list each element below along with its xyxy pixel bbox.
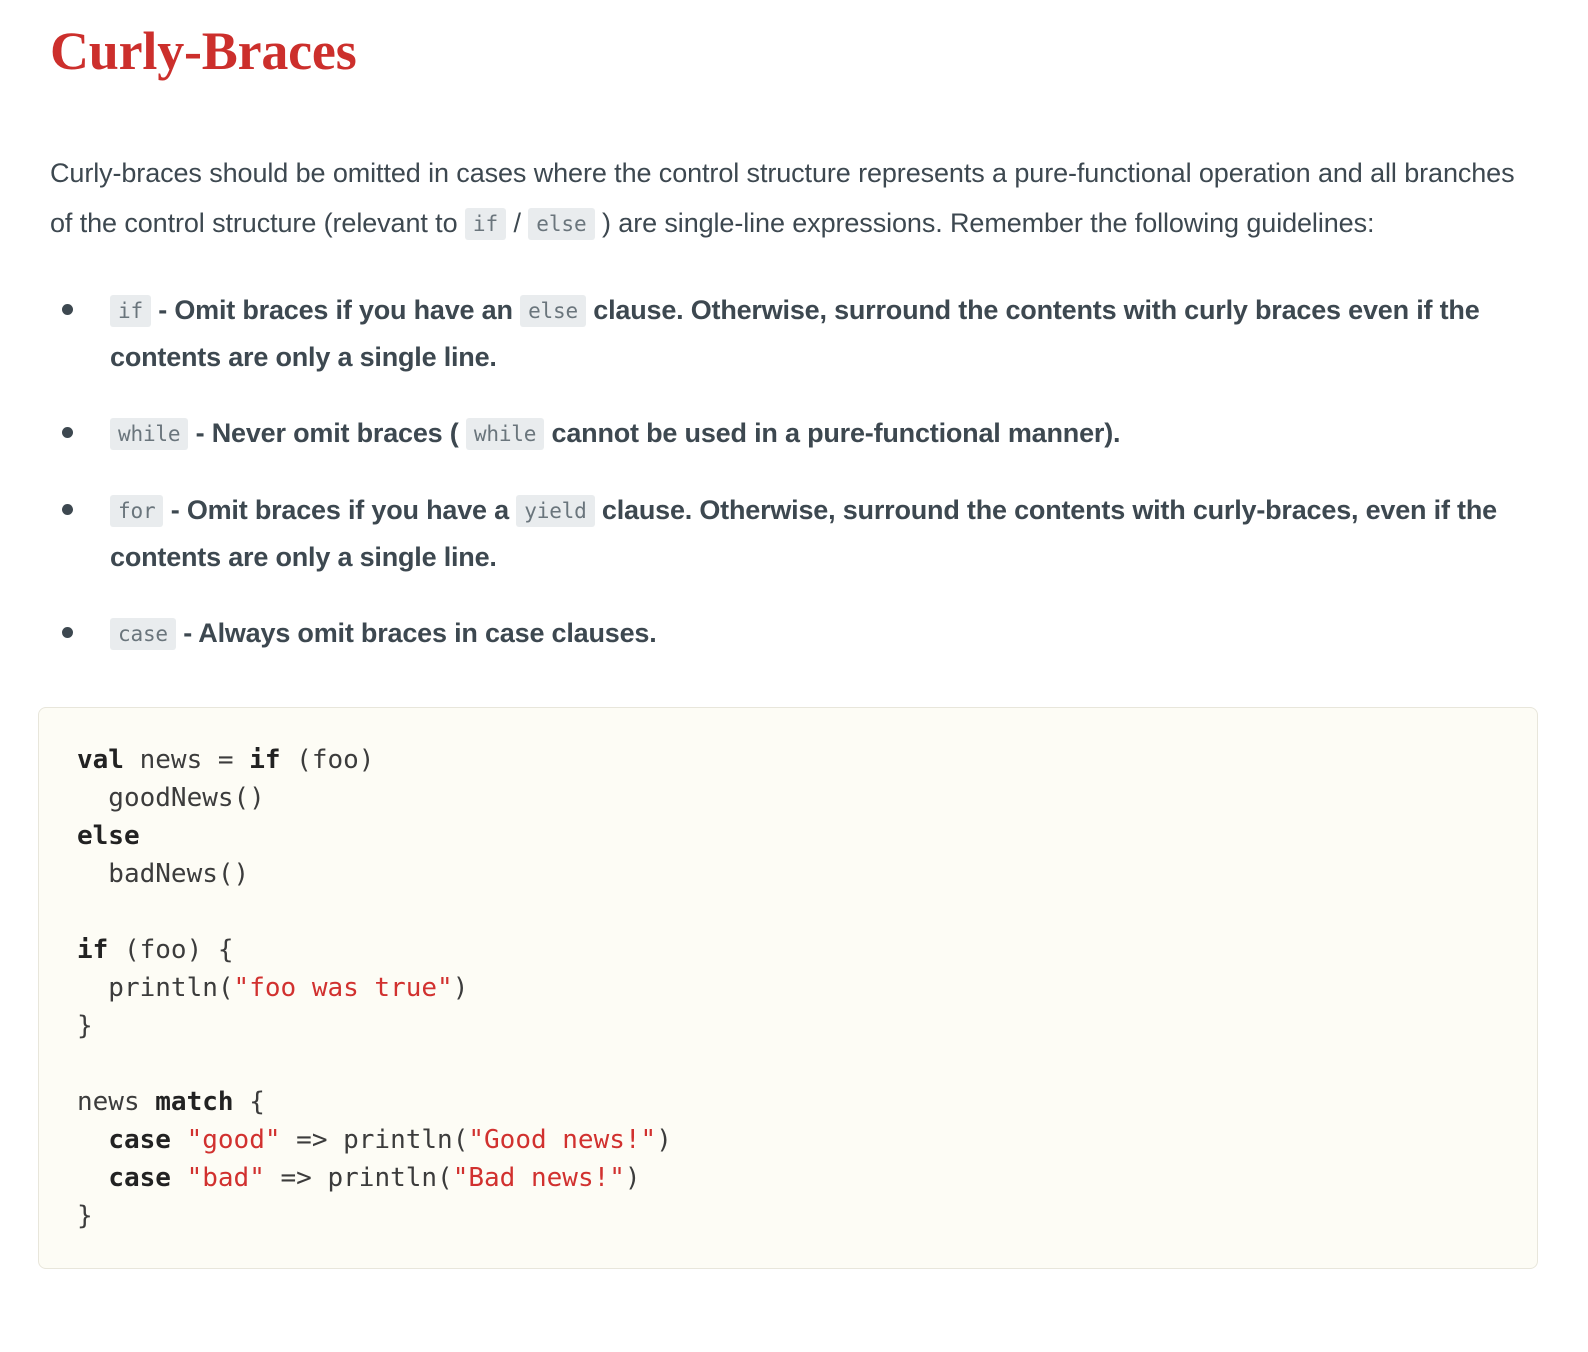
code-token: goodNews() (77, 783, 265, 813)
intro-separator: / (506, 208, 528, 238)
bullet-icon (62, 627, 73, 638)
inline-code-secondary: while (466, 418, 544, 450)
code-token (77, 1125, 108, 1155)
list-item-text-before: - Omit braces if you have an (151, 295, 520, 325)
code-block-content[interactable]: val news = if (foo) goodNews() else badN… (77, 741, 1537, 1235)
inline-code-secondary: yield (516, 495, 594, 527)
code-token (171, 1125, 187, 1155)
code-token: => println( (265, 1163, 453, 1193)
code-token: match (155, 1087, 233, 1117)
bullet-icon (62, 304, 73, 315)
list-item-text-before: - Omit braces if you have a (163, 495, 516, 525)
code-token: if (249, 745, 280, 775)
code-token: ) (656, 1125, 672, 1155)
code-block: val news = if (foo) goodNews() else badN… (38, 707, 1538, 1269)
list-item-text-before: - Always omit braces in case clauses. (176, 618, 657, 648)
code-token: case (108, 1125, 171, 1155)
code-token: news (124, 745, 218, 775)
code-token: = (218, 745, 234, 775)
page-root: Curly-Braces Curly-braces should be omit… (0, 0, 1588, 1352)
inline-code-keyword: while (110, 418, 188, 450)
code-token: println( (77, 973, 234, 1003)
code-token: "Good news!" (468, 1125, 656, 1155)
code-token: "foo was true" (234, 973, 453, 1003)
code-token: (foo) { (108, 935, 233, 965)
page-title: Curly-Braces (50, 0, 1538, 78)
bullet-icon (62, 504, 73, 515)
list-item: if - Omit braces if you have an else cla… (50, 287, 1538, 380)
list-item: for - Omit braces if you have a yield cl… (50, 487, 1538, 580)
code-token: } (77, 1201, 93, 1231)
list-item-text-after: cannot be used in a pure-functional mann… (544, 418, 1120, 448)
code-token: val (77, 745, 124, 775)
code-token: if (77, 935, 108, 965)
code-token: case (108, 1163, 171, 1193)
intro-text-part2: ) are single-line expressions. Remember … (595, 208, 1375, 238)
code-token: else (77, 821, 140, 851)
list-item: case - Always omit braces in case clause… (50, 610, 1538, 657)
code-token: } (77, 1011, 93, 1041)
code-token (171, 1163, 187, 1193)
code-token: badNews() (77, 859, 249, 889)
inline-code-keyword: for (110, 495, 163, 527)
inline-code-secondary: else (520, 295, 586, 327)
inline-code-keyword: if (110, 295, 151, 327)
bullet-icon (62, 427, 73, 438)
code-token: "Bad news!" (453, 1163, 625, 1193)
inline-code-else: else (528, 208, 594, 240)
code-token: "good" (187, 1125, 281, 1155)
inline-code-if: if (465, 208, 506, 240)
code-token: news (77, 1087, 155, 1117)
code-token: ) (453, 973, 469, 1003)
guidelines-list: if - Omit braces if you have an else cla… (50, 249, 1538, 657)
list-item: while - Never omit braces ( while cannot… (50, 410, 1538, 457)
intro-paragraph: Curly-braces should be omitted in cases … (50, 78, 1538, 249)
code-token: { (234, 1087, 265, 1117)
code-token: => println( (281, 1125, 469, 1155)
inline-code-keyword: case (110, 618, 176, 650)
list-item-text-before: - Never omit braces ( (188, 418, 466, 448)
code-token: "bad" (187, 1163, 265, 1193)
code-token: (foo) (281, 745, 375, 775)
code-token (234, 745, 250, 775)
code-token (77, 1163, 108, 1193)
code-token: ) (625, 1163, 641, 1193)
